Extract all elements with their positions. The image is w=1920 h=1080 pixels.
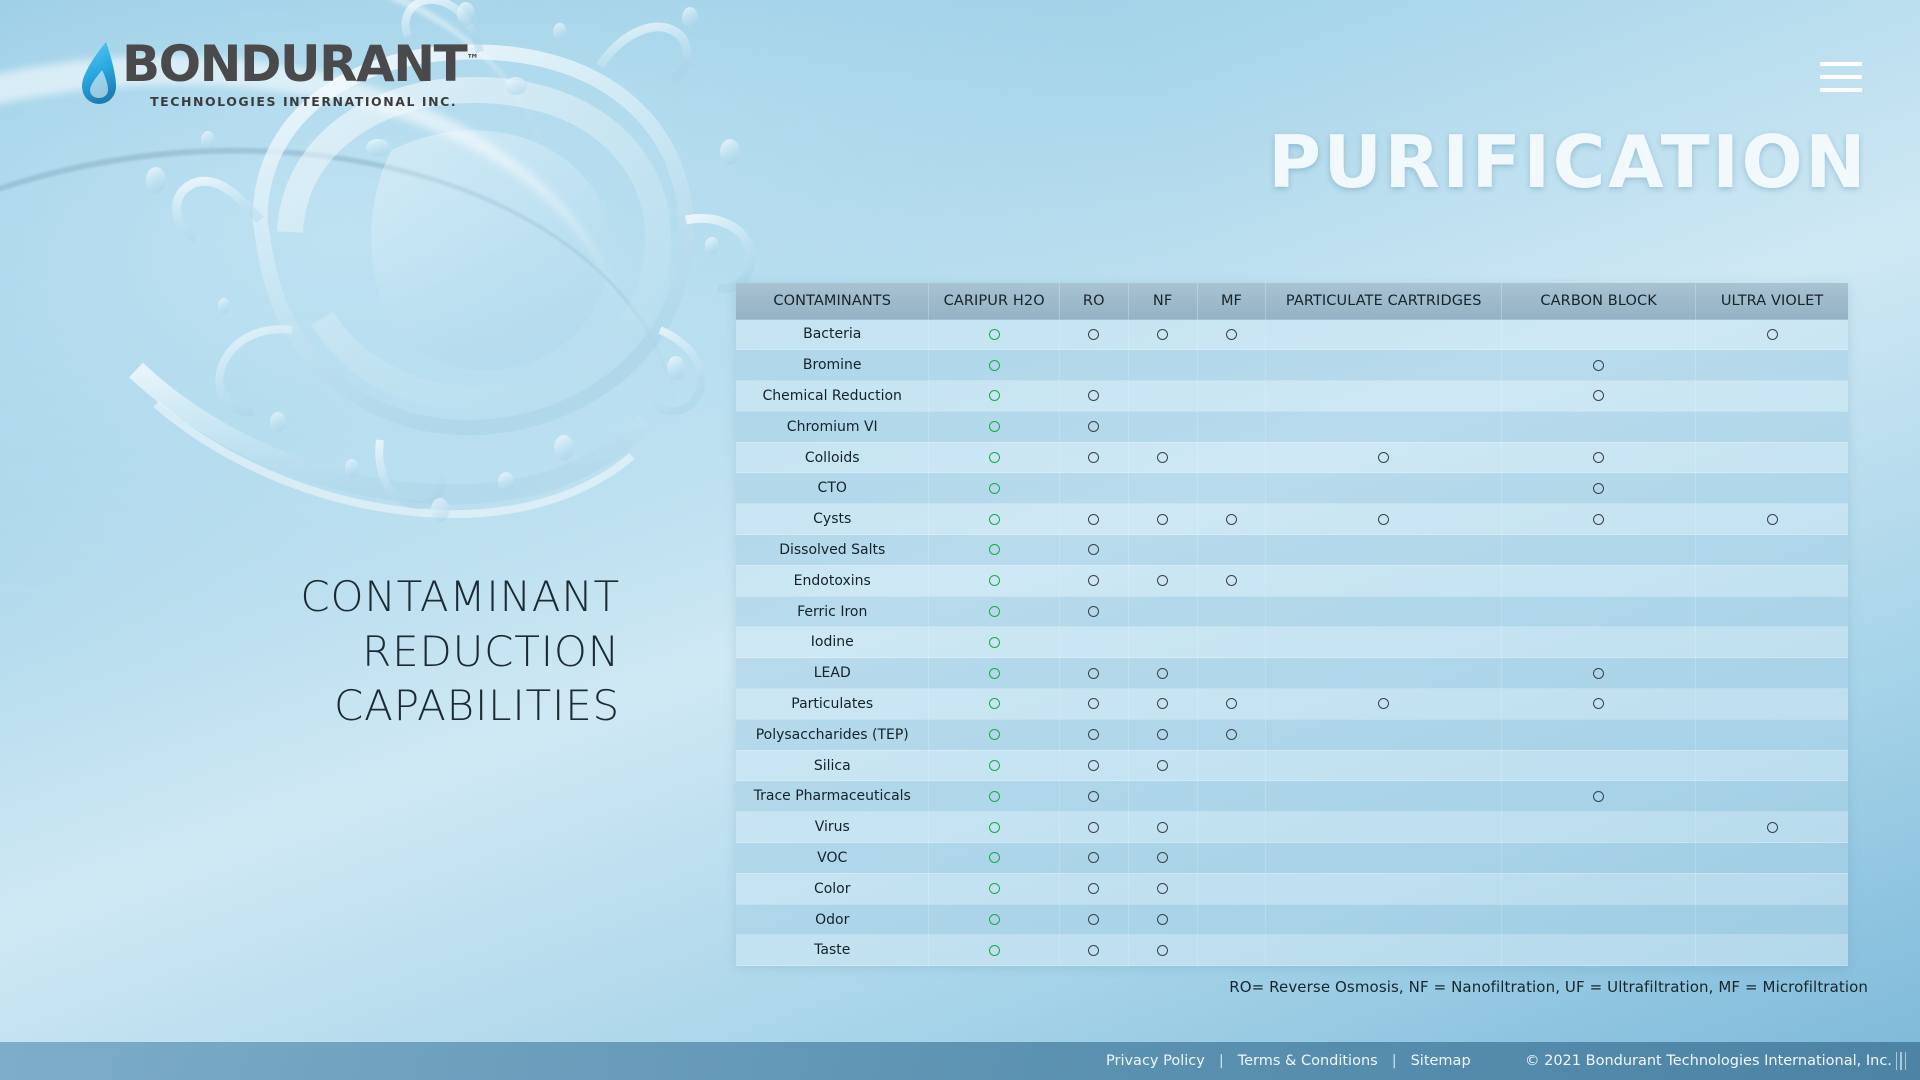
cell-mf [1197, 473, 1266, 504]
marker-circle [1226, 575, 1237, 586]
footer-link-terms-conditions[interactable]: Terms & Conditions [1238, 1053, 1378, 1069]
hamburger-menu-icon[interactable] [1820, 62, 1862, 92]
contaminant-name: Dissolved Salts [736, 535, 929, 566]
table-row: Chromium VI [736, 411, 1848, 442]
marker-circle [1157, 575, 1168, 586]
cell-carbon [1502, 627, 1696, 658]
cell-particulate [1266, 565, 1502, 596]
grip-line [1905, 1052, 1907, 1070]
cell-uv [1696, 350, 1848, 381]
cell-ro [1059, 935, 1128, 966]
table-row: Odor [736, 904, 1848, 935]
cell-uv [1696, 719, 1848, 750]
brand-tagline: TECHNOLOGIES INTERNATIONAL INC. [122, 94, 479, 109]
cell-uv [1696, 627, 1848, 658]
page-footer: Privacy Policy|Terms & Conditions|Sitema… [0, 1042, 1920, 1080]
cell-ro [1059, 812, 1128, 843]
cell-carbon [1502, 442, 1696, 473]
cell-ro [1059, 781, 1128, 812]
contaminant-name: Ferric Iron [736, 596, 929, 627]
cell-ro [1059, 873, 1128, 904]
cell-particulate [1266, 350, 1502, 381]
cell-mf [1197, 596, 1266, 627]
marker-circle [1378, 452, 1389, 463]
contaminant-name: Taste [736, 935, 929, 966]
page-title: PURIFICATION [1268, 120, 1868, 204]
marker-circle [1088, 668, 1099, 679]
table-row: Colloids [736, 442, 1848, 473]
cell-mf [1197, 627, 1266, 658]
cell-particulate [1266, 812, 1502, 843]
marker-circle-green [989, 668, 1000, 679]
marker-circle [1088, 452, 1099, 463]
cell-particulate [1266, 535, 1502, 566]
cell-carbon [1502, 935, 1696, 966]
contaminant-name: Virus [736, 812, 929, 843]
table-row: Trace Pharmaceuticals [736, 781, 1848, 812]
cell-nf [1128, 473, 1197, 504]
cell-nf [1128, 719, 1197, 750]
marker-circle [1226, 329, 1237, 340]
marker-circle [1593, 483, 1604, 494]
marker-circle [1767, 329, 1778, 340]
cell-nf [1128, 627, 1197, 658]
cell-uv [1696, 596, 1848, 627]
marker-circle [1157, 729, 1168, 740]
contaminant-name: Chromium VI [736, 411, 929, 442]
cell-ro [1059, 689, 1128, 720]
cell-mf [1197, 935, 1266, 966]
cell-carbon [1502, 319, 1696, 350]
cell-nf [1128, 873, 1197, 904]
marker-circle-green [989, 483, 1000, 494]
cell-ro [1059, 473, 1128, 504]
cell-caripur [929, 627, 1059, 658]
cell-uv [1696, 411, 1848, 442]
cell-ro [1059, 719, 1128, 750]
cell-caripur [929, 843, 1059, 874]
marker-circle [1157, 883, 1168, 894]
marker-circle [1157, 822, 1168, 833]
marker-circle [1157, 698, 1168, 709]
cell-mf [1197, 689, 1266, 720]
table-header-row: CONTAMINANTSCARIPUR H2ORONFMFPARTICULATE… [736, 283, 1848, 319]
hamburger-bar [1820, 62, 1862, 66]
marker-circle-green [989, 729, 1000, 740]
headline-line-3: CAPABILITIES [120, 679, 620, 734]
cell-carbon [1502, 658, 1696, 689]
column-header-mf: MF [1197, 283, 1266, 319]
cell-ro [1059, 504, 1128, 535]
cell-mf [1197, 750, 1266, 781]
cell-mf [1197, 719, 1266, 750]
cell-caripur [929, 873, 1059, 904]
marker-circle [1088, 945, 1099, 956]
footer-link-sitemap[interactable]: Sitemap [1411, 1053, 1471, 1069]
cell-uv [1696, 442, 1848, 473]
table-row: LEAD [736, 658, 1848, 689]
cell-particulate [1266, 719, 1502, 750]
column-header-nf: NF [1128, 283, 1197, 319]
cell-nf [1128, 843, 1197, 874]
cell-ro [1059, 750, 1128, 781]
cell-nf [1128, 350, 1197, 381]
marker-circle [1088, 606, 1099, 617]
cell-mf [1197, 843, 1266, 874]
contaminant-name: Trace Pharmaceuticals [736, 781, 929, 812]
cell-mf [1197, 873, 1266, 904]
headline-line-1: CONTAMINANT [120, 570, 620, 625]
marker-circle [1157, 514, 1168, 525]
marker-circle [1593, 514, 1604, 525]
cell-uv [1696, 781, 1848, 812]
column-header-ultra-violet: ULTRA VIOLET [1696, 283, 1848, 319]
cell-mf [1197, 381, 1266, 412]
marker-circle-green [989, 360, 1000, 371]
cell-mf [1197, 781, 1266, 812]
marker-circle [1157, 452, 1168, 463]
table-row: Color [736, 873, 1848, 904]
table-body: BacteriaBromineChemical ReductionChromiu… [736, 319, 1848, 966]
marker-circle [1593, 452, 1604, 463]
marker-circle [1226, 514, 1237, 525]
cell-caripur [929, 689, 1059, 720]
cell-uv [1696, 319, 1848, 350]
cell-ro [1059, 381, 1128, 412]
cell-carbon [1502, 719, 1696, 750]
cell-nf [1128, 781, 1197, 812]
cell-carbon [1502, 843, 1696, 874]
cell-uv [1696, 658, 1848, 689]
marker-circle [1088, 421, 1099, 432]
table-row: Ferric Iron [736, 596, 1848, 627]
marker-circle [1157, 668, 1168, 679]
contaminant-name: LEAD [736, 658, 929, 689]
cell-mf [1197, 565, 1266, 596]
cell-carbon [1502, 535, 1696, 566]
marker-circle [1088, 544, 1099, 555]
cell-carbon [1502, 411, 1696, 442]
cell-particulate [1266, 843, 1502, 874]
table-row: Endotoxins [736, 565, 1848, 596]
footer-links: Privacy Policy|Terms & Conditions|Sitema… [1106, 1053, 1471, 1069]
marker-circle [1378, 698, 1389, 709]
cell-nf [1128, 935, 1197, 966]
marker-circle [1157, 914, 1168, 925]
marker-circle [1088, 760, 1099, 771]
cell-caripur [929, 411, 1059, 442]
cell-caripur [929, 535, 1059, 566]
table-row: Silica [736, 750, 1848, 781]
marker-circle [1088, 729, 1099, 740]
section-headline: CONTAMINANT REDUCTION CAPABILITIES [120, 570, 620, 734]
cell-uv [1696, 873, 1848, 904]
marker-circle [1088, 791, 1099, 802]
cell-caripur [929, 596, 1059, 627]
marker-circle [1088, 514, 1099, 525]
marker-circle [1088, 852, 1099, 863]
brand-name: BONDURANT™ [122, 40, 479, 89]
column-header-contaminants: CONTAMINANTS [736, 283, 929, 319]
marker-circle [1088, 575, 1099, 586]
contaminant-name: Odor [736, 904, 929, 935]
marker-circle [1226, 698, 1237, 709]
cell-ro [1059, 658, 1128, 689]
cell-ro [1059, 596, 1128, 627]
table-row: Taste [736, 935, 1848, 966]
table-row: Virus [736, 812, 1848, 843]
marker-circle [1593, 698, 1604, 709]
cell-mf [1197, 812, 1266, 843]
marker-circle [1088, 883, 1099, 894]
cell-mf [1197, 658, 1266, 689]
cell-ro [1059, 319, 1128, 350]
marker-circle-green [989, 390, 1000, 401]
cell-mf [1197, 319, 1266, 350]
contaminant-name: Silica [736, 750, 929, 781]
footer-separator: | [1392, 1053, 1397, 1069]
marker-circle [1088, 390, 1099, 401]
marker-circle [1088, 914, 1099, 925]
table-row: Bacteria [736, 319, 1848, 350]
cell-nf [1128, 381, 1197, 412]
brand-name-text: BONDURANT [122, 35, 466, 93]
cell-mf [1197, 442, 1266, 473]
contaminant-name: Bacteria [736, 319, 929, 350]
cell-nf [1128, 411, 1197, 442]
cell-particulate [1266, 873, 1502, 904]
copyright-text: © 2021 Bondurant Technologies Internatio… [1525, 1053, 1892, 1069]
table-row: Iodine [736, 627, 1848, 658]
cell-particulate [1266, 781, 1502, 812]
cell-caripur [929, 750, 1059, 781]
grip-line [1896, 1052, 1898, 1070]
marker-circle-green [989, 544, 1000, 555]
marker-circle [1378, 514, 1389, 525]
cell-nf [1128, 535, 1197, 566]
cell-uv [1696, 473, 1848, 504]
cell-caripur [929, 904, 1059, 935]
cell-caripur [929, 442, 1059, 473]
marker-circle-green [989, 421, 1000, 432]
table-row: Cysts [736, 504, 1848, 535]
marker-circle-green [989, 698, 1000, 709]
marker-circle-green [989, 945, 1000, 956]
marker-circle [1088, 698, 1099, 709]
cell-nf [1128, 904, 1197, 935]
marker-circle-green [989, 514, 1000, 525]
contaminant-name: CTO [736, 473, 929, 504]
marker-circle [1157, 760, 1168, 771]
cell-mf [1197, 350, 1266, 381]
cell-caripur [929, 658, 1059, 689]
cell-carbon [1502, 350, 1696, 381]
cell-particulate [1266, 319, 1502, 350]
cell-caripur [929, 719, 1059, 750]
brand-logo[interactable]: BONDURANT™ TECHNOLOGIES INTERNATIONAL IN… [76, 40, 479, 109]
cell-caripur [929, 812, 1059, 843]
cell-nf [1128, 596, 1197, 627]
cell-uv [1696, 504, 1848, 535]
marker-circle [1157, 945, 1168, 956]
contaminant-name: Cysts [736, 504, 929, 535]
cell-caripur [929, 935, 1059, 966]
contaminant-name: Bromine [736, 350, 929, 381]
cell-uv [1696, 750, 1848, 781]
cell-ro [1059, 904, 1128, 935]
cell-ro [1059, 535, 1128, 566]
cell-ro [1059, 442, 1128, 473]
cell-caripur [929, 565, 1059, 596]
cell-particulate [1266, 504, 1502, 535]
cell-uv [1696, 904, 1848, 935]
marker-circle-green [989, 760, 1000, 771]
cell-particulate [1266, 935, 1502, 966]
cell-mf [1197, 535, 1266, 566]
table-row: CTO [736, 473, 1848, 504]
cell-ro [1059, 843, 1128, 874]
cell-particulate [1266, 442, 1502, 473]
cell-particulate [1266, 381, 1502, 412]
cell-uv [1696, 565, 1848, 596]
contaminant-name: VOC [736, 843, 929, 874]
marker-circle-green [989, 791, 1000, 802]
column-header-caripur-h2o: CARIPUR H2O [929, 283, 1059, 319]
marker-circle-green [989, 606, 1000, 617]
cell-particulate [1266, 658, 1502, 689]
marker-circle [1767, 514, 1778, 525]
cell-caripur [929, 781, 1059, 812]
cell-particulate [1266, 596, 1502, 627]
cell-particulate [1266, 411, 1502, 442]
trademark-symbol: ™ [466, 52, 479, 67]
headline-line-2: REDUCTION [120, 625, 620, 680]
water-drop-icon [76, 40, 120, 106]
marker-circle-green [989, 852, 1000, 863]
marker-circle [1593, 668, 1604, 679]
cell-ro [1059, 627, 1128, 658]
cell-uv [1696, 935, 1848, 966]
column-header-particulate-cartridges: PARTICULATE CARTRIDGES [1266, 283, 1502, 319]
resize-grip-icon[interactable] [1896, 1052, 1907, 1070]
hamburger-bar [1820, 75, 1862, 79]
marker-circle-green [989, 329, 1000, 340]
footer-link-privacy-policy[interactable]: Privacy Policy [1106, 1053, 1205, 1069]
marker-circle [1088, 329, 1099, 340]
cell-carbon [1502, 873, 1696, 904]
cell-caripur [929, 473, 1059, 504]
cell-nf [1128, 442, 1197, 473]
marker-circle [1088, 822, 1099, 833]
cell-caripur [929, 504, 1059, 535]
cell-uv [1696, 381, 1848, 412]
footer-separator: | [1219, 1053, 1224, 1069]
page-root: BONDURANT™ TECHNOLOGIES INTERNATIONAL IN… [0, 0, 1920, 1080]
cell-ro [1059, 350, 1128, 381]
cell-nf [1128, 812, 1197, 843]
cell-nf [1128, 504, 1197, 535]
cell-caripur [929, 350, 1059, 381]
table-row: Polysaccharides (TEP) [736, 719, 1848, 750]
cell-carbon [1502, 904, 1696, 935]
cell-particulate [1266, 627, 1502, 658]
grip-line [1900, 1052, 1902, 1070]
marker-circle [1157, 852, 1168, 863]
table-row: Dissolved Salts [736, 535, 1848, 566]
cell-mf [1197, 904, 1266, 935]
marker-circle [1157, 329, 1168, 340]
hamburger-bar [1820, 88, 1862, 92]
marker-circle [1593, 390, 1604, 401]
cell-carbon [1502, 473, 1696, 504]
cell-carbon [1502, 504, 1696, 535]
cell-uv [1696, 535, 1848, 566]
marker-circle [1593, 360, 1604, 371]
cell-uv [1696, 689, 1848, 720]
cell-particulate [1266, 473, 1502, 504]
marker-circle-green [989, 452, 1000, 463]
cell-carbon [1502, 689, 1696, 720]
table-row: Bromine [736, 350, 1848, 381]
cell-ro [1059, 411, 1128, 442]
marker-circle-green [989, 637, 1000, 648]
cell-mf [1197, 411, 1266, 442]
table-row: Particulates [736, 689, 1848, 720]
marker-circle [1226, 729, 1237, 740]
cell-nf [1128, 319, 1197, 350]
marker-circle-green [989, 822, 1000, 833]
marker-circle [1593, 791, 1604, 802]
cell-carbon [1502, 781, 1696, 812]
contaminant-name: Polysaccharides (TEP) [736, 719, 929, 750]
cell-caripur [929, 319, 1059, 350]
cell-nf [1128, 565, 1197, 596]
contaminant-reduction-table: CONTAMINANTSCARIPUR H2ORONFMFPARTICULATE… [736, 283, 1848, 966]
cell-nf [1128, 689, 1197, 720]
contaminant-name: Endotoxins [736, 565, 929, 596]
table-row: VOC [736, 843, 1848, 874]
cell-ro [1059, 565, 1128, 596]
cell-mf [1197, 504, 1266, 535]
cell-particulate [1266, 689, 1502, 720]
cell-nf [1128, 658, 1197, 689]
marker-circle [1767, 822, 1778, 833]
cell-uv [1696, 812, 1848, 843]
marker-circle-green [989, 914, 1000, 925]
table-legend-footnote: RO= Reverse Osmosis, NF = Nanofiltration… [1229, 978, 1868, 996]
cell-carbon [1502, 596, 1696, 627]
cell-carbon [1502, 565, 1696, 596]
marker-circle-green [989, 883, 1000, 894]
cell-carbon [1502, 750, 1696, 781]
contaminant-name: Colloids [736, 442, 929, 473]
contaminant-name: Chemical Reduction [736, 381, 929, 412]
contaminant-name: Color [736, 873, 929, 904]
marker-circle-green [989, 575, 1000, 586]
cell-carbon [1502, 812, 1696, 843]
cell-uv [1696, 843, 1848, 874]
contaminant-name: Particulates [736, 689, 929, 720]
cell-nf [1128, 750, 1197, 781]
table-row: Chemical Reduction [736, 381, 1848, 412]
column-header-carbon-block: CARBON BLOCK [1502, 283, 1696, 319]
cell-caripur [929, 381, 1059, 412]
cell-particulate [1266, 904, 1502, 935]
cell-particulate [1266, 750, 1502, 781]
cell-carbon [1502, 381, 1696, 412]
contaminant-name: Iodine [736, 627, 929, 658]
column-header-ro: RO [1059, 283, 1128, 319]
